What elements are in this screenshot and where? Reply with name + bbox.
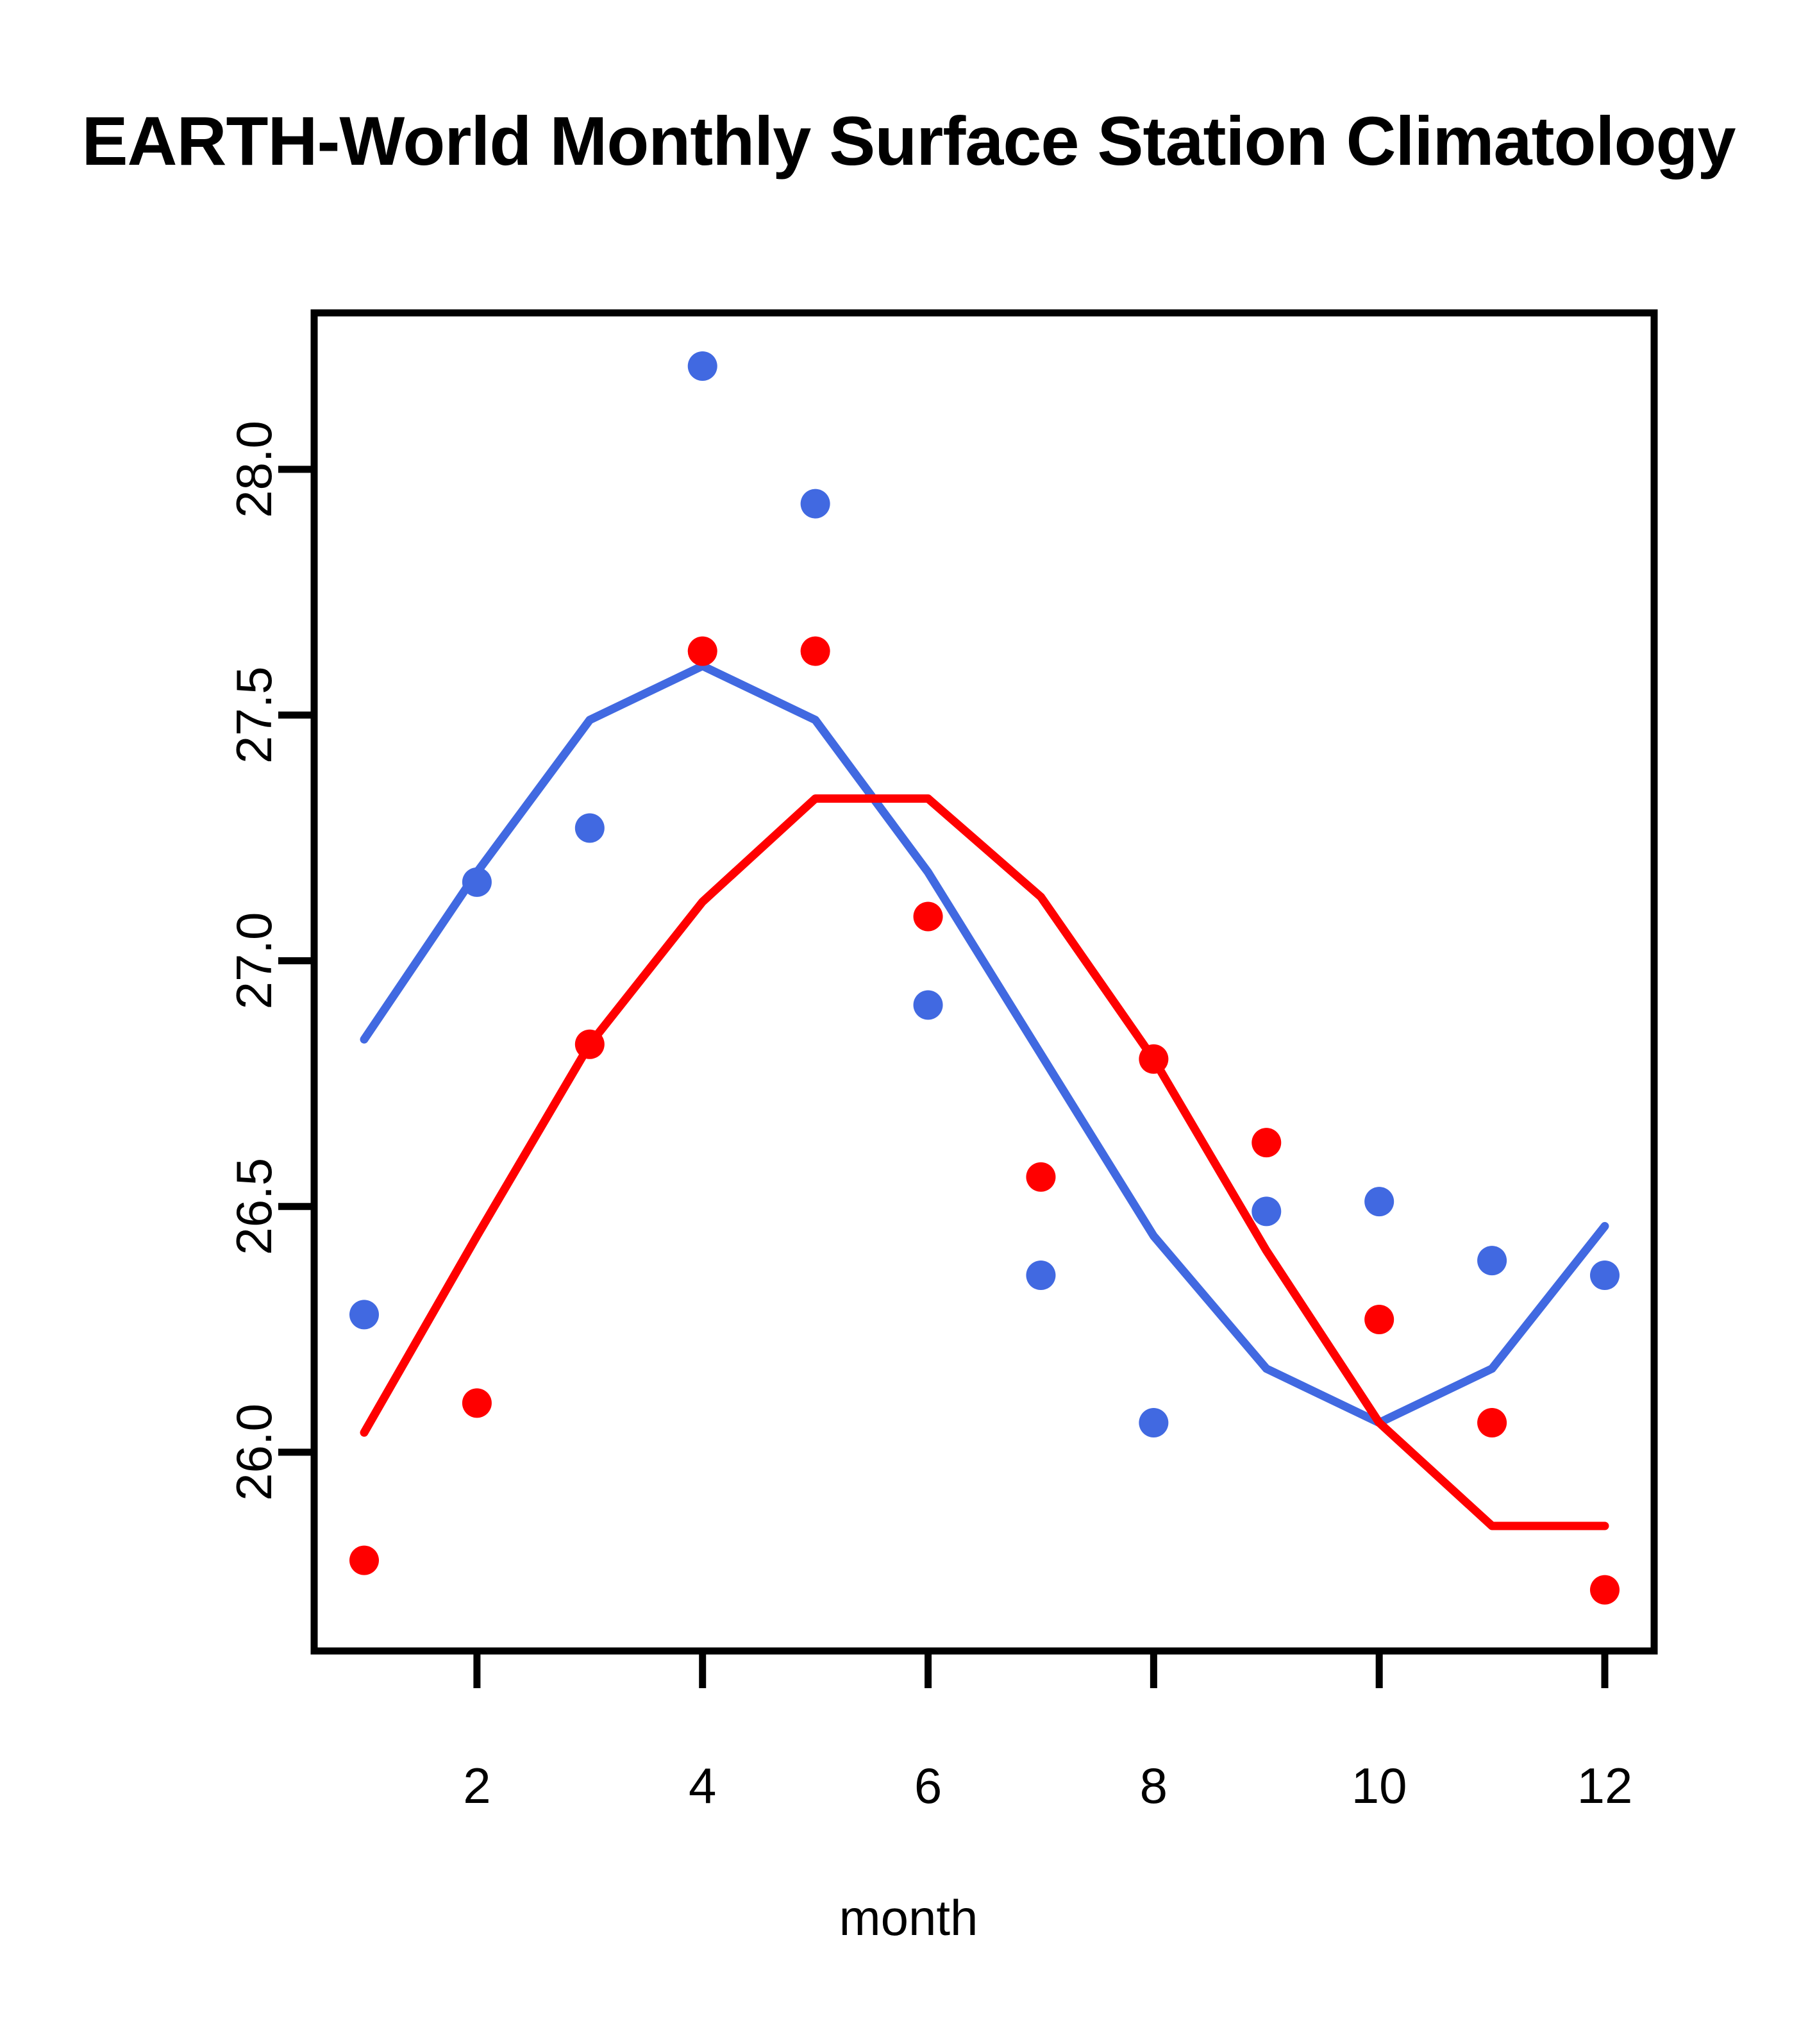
x-axis-tick-label: 8 — [1140, 1757, 1168, 1814]
data-point-blue-points — [688, 351, 717, 381]
data-point-red-points — [1590, 1575, 1620, 1605]
y-axis-tick-label: 26.5 — [226, 1158, 282, 1255]
data-point-blue-points — [1477, 1246, 1507, 1275]
data-point-blue-points — [1026, 1261, 1055, 1290]
data-point-red-points — [914, 902, 943, 932]
chart-root: EARTH-World Monthly Surface Station Clim… — [0, 0, 1817, 2044]
data-point-red-points — [575, 1030, 605, 1059]
series-line-blue-line — [364, 666, 1605, 1423]
data-point-blue-points — [801, 489, 830, 519]
data-point-red-points — [1139, 1044, 1168, 1074]
x-axis-tick-label: 4 — [689, 1757, 716, 1814]
data-point-red-points — [1364, 1305, 1394, 1334]
x-axis-tick-label: 2 — [463, 1757, 490, 1814]
y-axis-tick-label: 28.0 — [226, 421, 282, 518]
x-axis: 24681012 — [463, 1651, 1632, 1814]
data-point-red-points — [349, 1546, 379, 1575]
data-point-red-points — [1252, 1128, 1281, 1157]
data-point-blue-points — [1590, 1261, 1620, 1290]
data-point-red-points — [801, 637, 830, 666]
data-point-blue-points — [462, 867, 492, 897]
y-axis-tick-label: 26.0 — [226, 1403, 282, 1501]
y-axis-tick-label: 27.0 — [226, 912, 282, 1010]
data-point-red-points — [1477, 1408, 1507, 1437]
y-axis: 26.026.527.027.528.0 — [226, 421, 314, 1501]
chart-canvas: 26.026.527.027.528.0 24681012 — [0, 0, 1817, 2044]
x-axis-title: month — [0, 1889, 1817, 1947]
data-point-blue-points — [349, 1300, 379, 1329]
x-axis-tick-label: 6 — [914, 1757, 942, 1814]
data-point-blue-points — [914, 990, 943, 1019]
series-points-group — [349, 351, 1620, 1605]
data-point-blue-points — [1139, 1408, 1168, 1437]
plot-frame — [314, 313, 1654, 1651]
data-point-red-points — [1026, 1162, 1055, 1192]
data-point-blue-points — [1364, 1187, 1394, 1216]
y-axis-tick-label: 27.5 — [226, 666, 282, 764]
series-line-red-line — [364, 799, 1605, 1526]
data-point-red-points — [688, 637, 717, 666]
data-point-blue-points — [1252, 1196, 1281, 1226]
data-point-blue-points — [575, 814, 605, 843]
data-point-red-points — [462, 1388, 492, 1418]
series-lines-group — [364, 666, 1605, 1526]
x-axis-tick-label: 10 — [1352, 1757, 1407, 1814]
x-axis-tick-label: 12 — [1577, 1757, 1633, 1814]
